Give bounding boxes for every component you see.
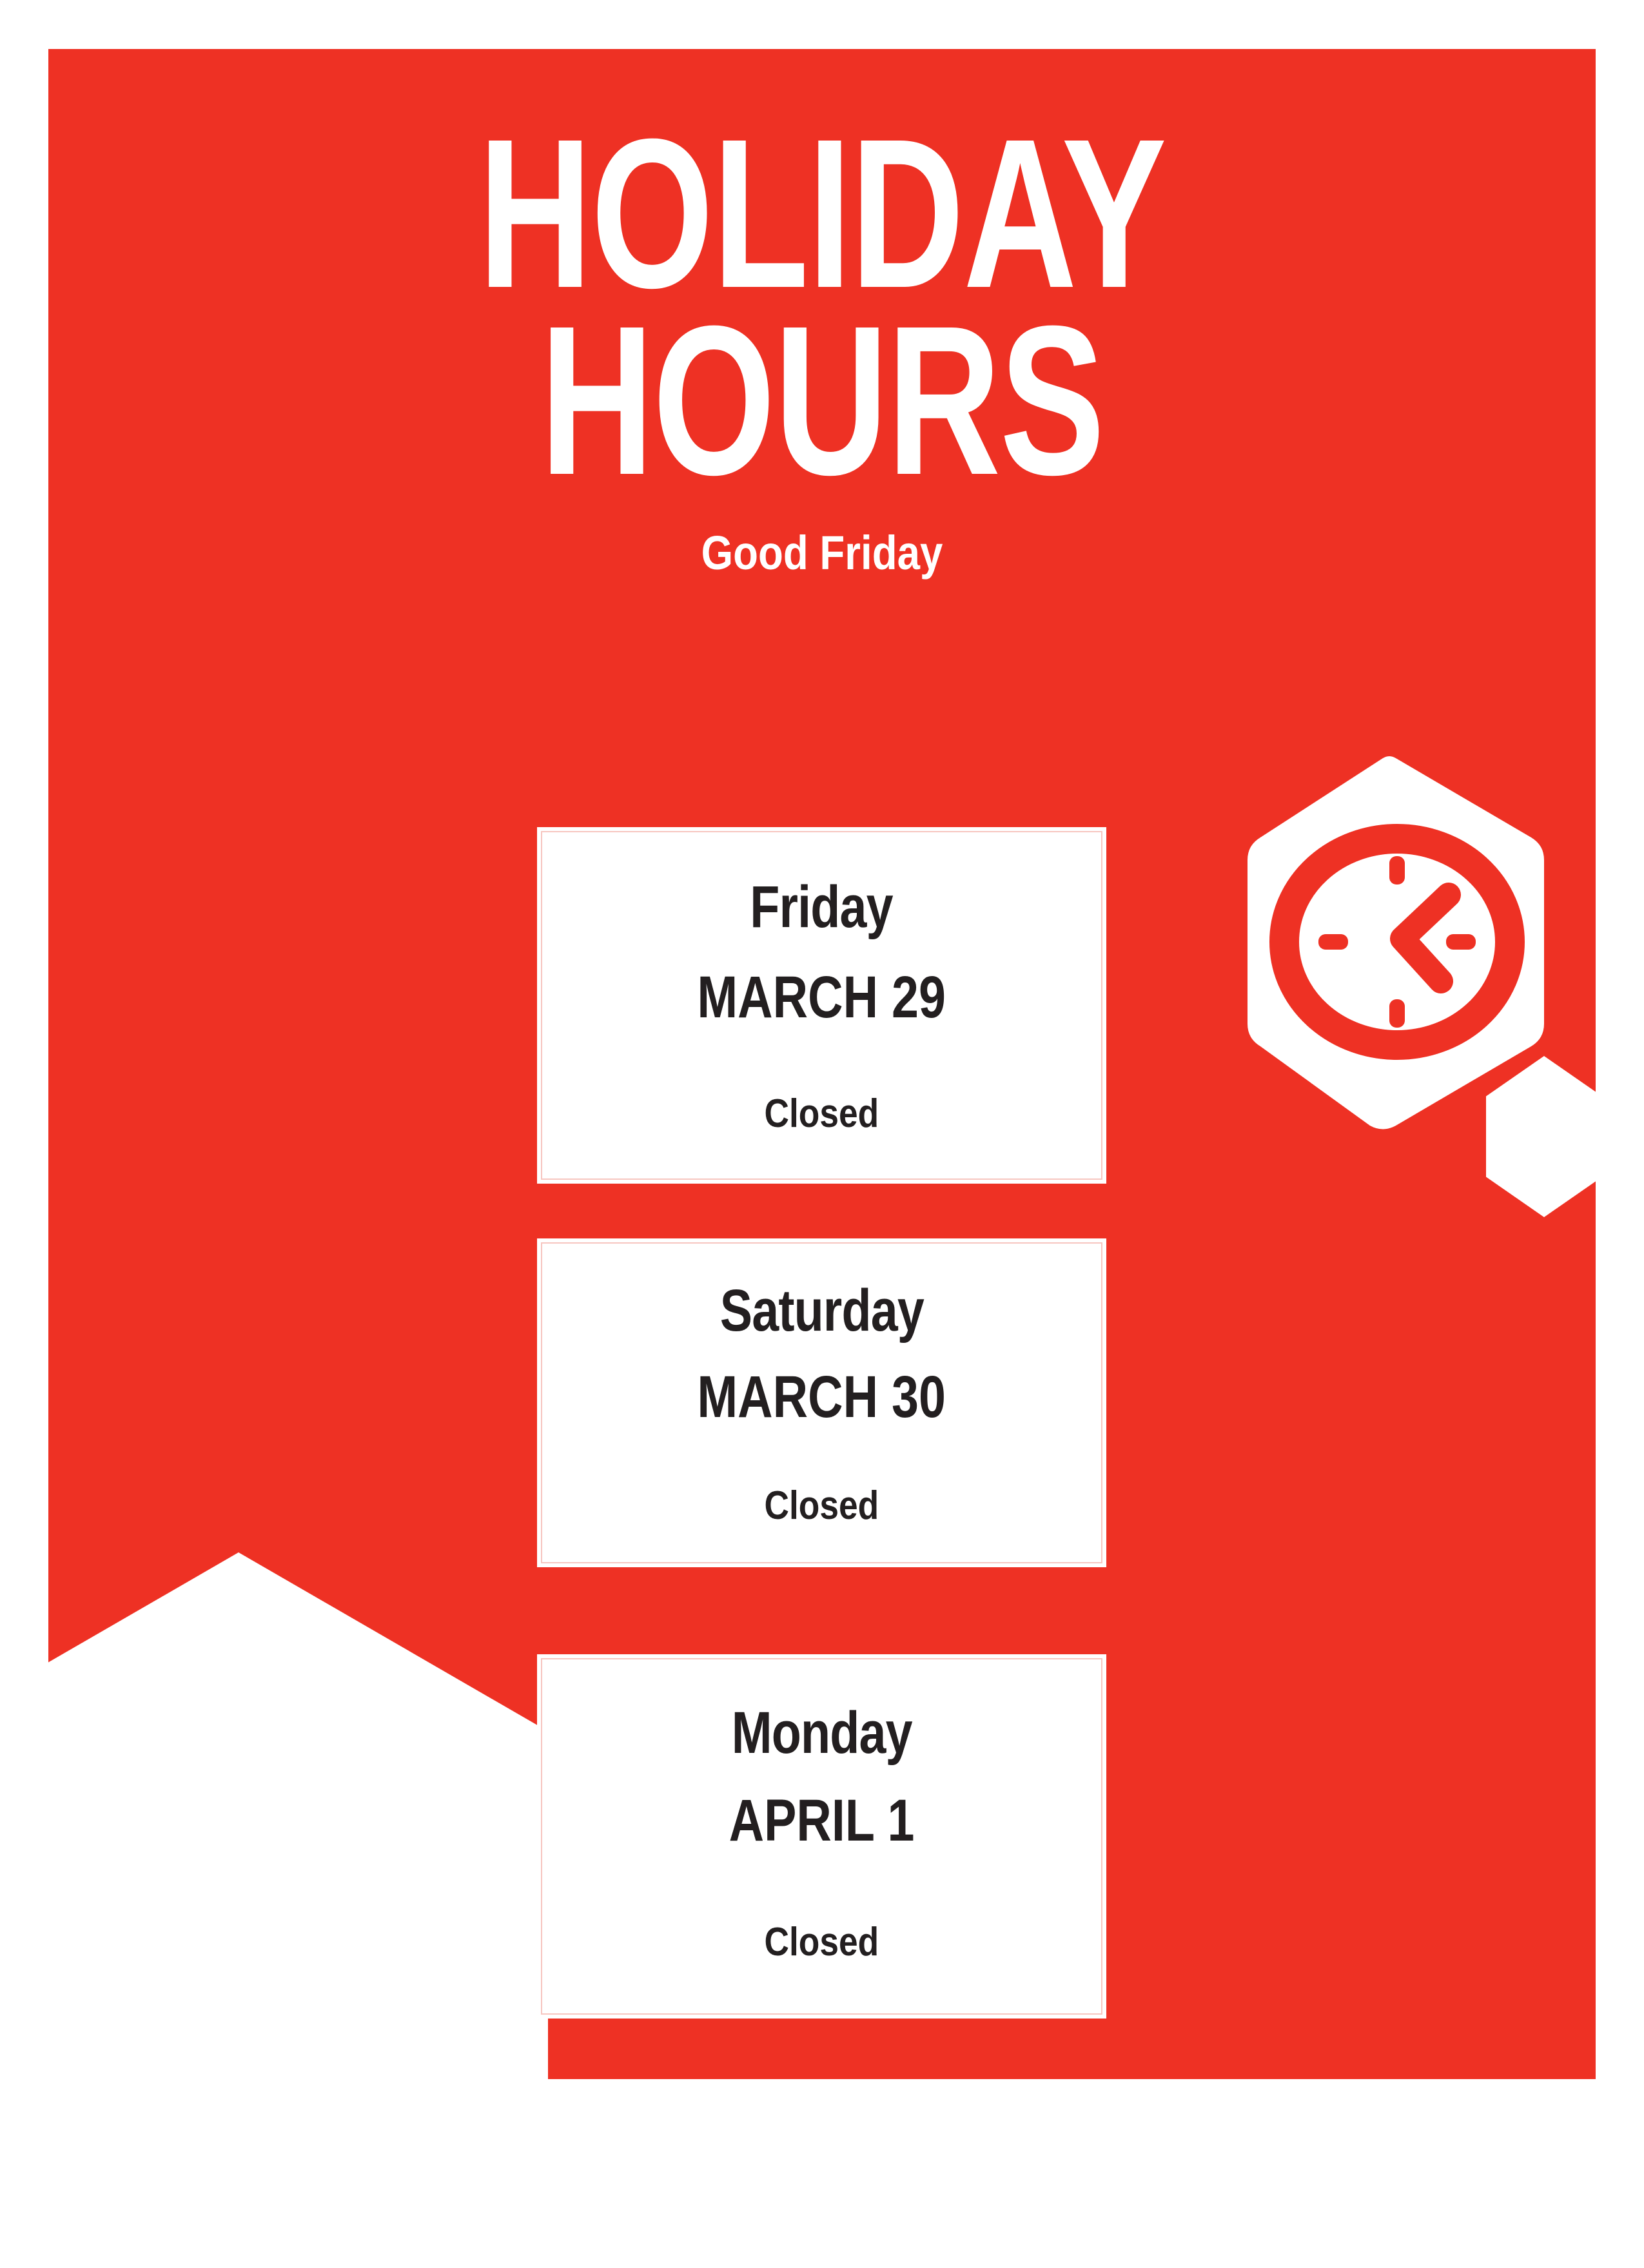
page-title-line-1: HOLIDAY [250,120,1394,307]
poster-background-panel: HOLIDAY HOURS Good Friday Fr [48,49,1596,2079]
schedule-card-date: APRIL 1 [729,1791,915,1850]
page-title-line-2: HOURS [250,307,1394,494]
schedule-card-inner: Friday MARCH 29 Closed [541,831,1102,1180]
schedule-card: Friday MARCH 29 Closed [537,827,1106,1184]
poster-title-block: HOLIDAY HOURS Good Friday [48,120,1596,577]
schedule-card-inner: Saturday MARCH 30 Closed [541,1242,1102,1563]
schedule-card: Monday APRIL 1 Closed [537,1654,1106,2019]
schedule-card-status: Closed [765,1094,879,1134]
poster-subtitle: Good Friday [157,529,1487,577]
hexagon-shape-bottom-left [0,1552,548,2268]
schedule-card-day: Friday [750,877,893,937]
schedule-card-day: Saturday [719,1281,923,1340]
schedule-card-status: Closed [765,1922,879,1962]
schedule-card-date: MARCH 30 [698,1367,946,1427]
schedule-card: Saturday MARCH 30 Closed [537,1238,1106,1567]
schedule-card-status: Closed [765,1486,879,1526]
schedule-card-inner: Monday APRIL 1 Closed [541,1658,1102,2015]
clock-icon [1222,745,1570,1139]
schedule-card-date: MARCH 29 [698,968,946,1027]
schedule-card-day: Monday [731,1703,912,1763]
holiday-hours-poster: HOLIDAY HOURS Good Friday Fr [0,0,1644,2127]
